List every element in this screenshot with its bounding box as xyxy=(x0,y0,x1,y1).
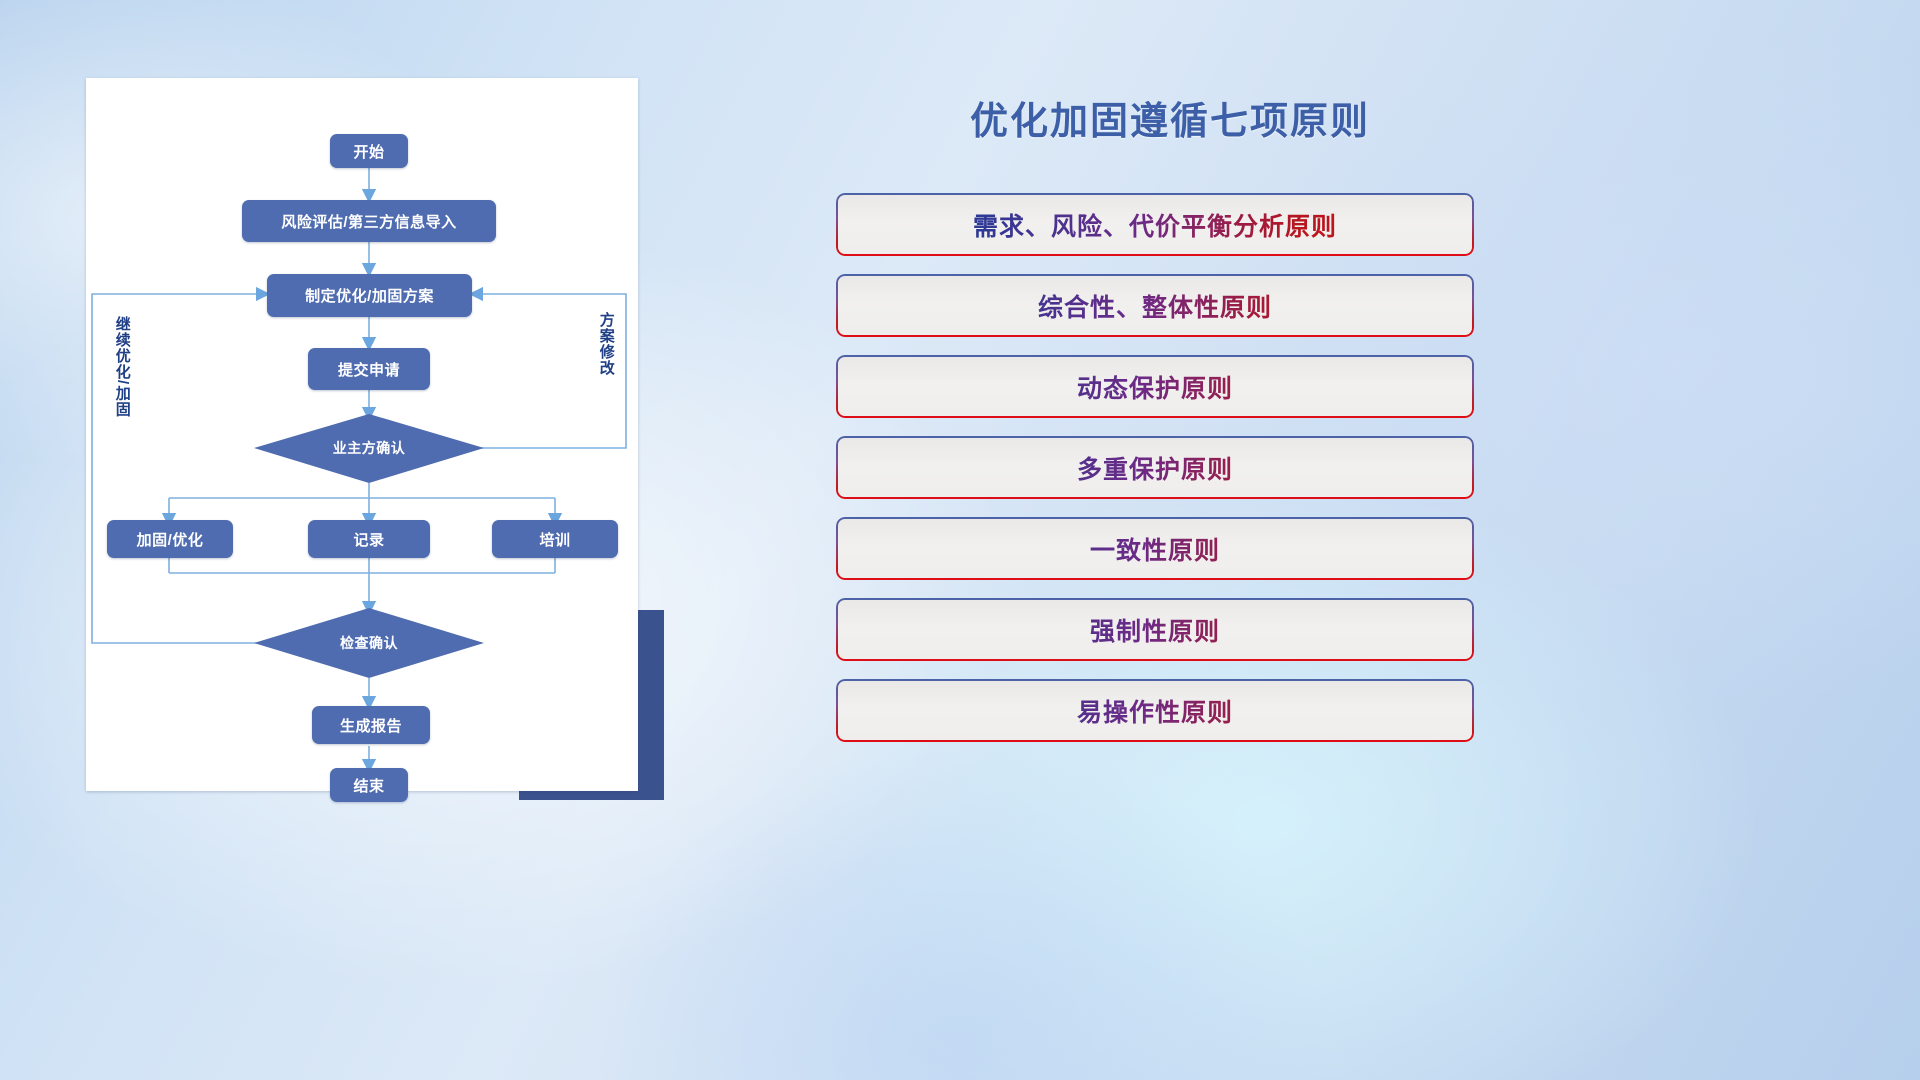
principle-item-7[interactable]: 易操作性原则 xyxy=(836,679,1474,742)
flowchart: 开始 风险评估/第三方信息导入 制定优化/加固方案 提交申请 业主方确认 加固/… xyxy=(86,78,638,791)
principle-item-1[interactable]: 需求、风险、代价平衡分析原则 xyxy=(836,193,1474,256)
flowchart-node-generate-report[interactable]: 生成报告 xyxy=(312,706,430,744)
principle-label: 综合性、整体性原则 xyxy=(836,274,1474,337)
flowchart-node-submit-application[interactable]: 提交申请 xyxy=(308,348,430,390)
principle-label: 需求、风险、代价平衡分析原则 xyxy=(836,193,1474,256)
flowchart-label-plan-revision: 方案修改 xyxy=(598,312,614,408)
flowchart-node-make-plan[interactable]: 制定优化/加固方案 xyxy=(267,274,472,317)
flowchart-label-continue-optimize: 继续优化/加固 xyxy=(114,316,130,446)
flowchart-node-owner-confirm[interactable]: 业主方确认 xyxy=(304,430,434,466)
principle-item-3[interactable]: 动态保护原则 xyxy=(836,355,1474,418)
flowchart-node-training[interactable]: 培训 xyxy=(492,520,618,558)
page-title: 优化加固遵循七项原则 xyxy=(830,90,1510,145)
principle-item-6[interactable]: 强制性原则 xyxy=(836,598,1474,661)
principle-item-4[interactable]: 多重保护原则 xyxy=(836,436,1474,499)
flowchart-node-risk-assessment[interactable]: 风险评估/第三方信息导入 xyxy=(242,200,496,242)
flowchart-node-check-confirm[interactable]: 检查确认 xyxy=(304,625,434,661)
principles-list: 需求、风险、代价平衡分析原则 综合性、整体性原则 动态保护原则 多重保护原则 一… xyxy=(836,193,1474,760)
flowchart-node-reinforce-optimize[interactable]: 加固/优化 xyxy=(107,520,233,558)
principle-label: 易操作性原则 xyxy=(836,679,1474,742)
flowchart-node-record[interactable]: 记录 xyxy=(308,520,430,558)
principle-label: 强制性原则 xyxy=(836,598,1474,661)
principle-label: 动态保护原则 xyxy=(836,355,1474,418)
principle-item-5[interactable]: 一致性原则 xyxy=(836,517,1474,580)
principle-label: 多重保护原则 xyxy=(836,436,1474,499)
principle-item-2[interactable]: 综合性、整体性原则 xyxy=(836,274,1474,337)
principle-label: 一致性原则 xyxy=(836,517,1474,580)
flowchart-node-start[interactable]: 开始 xyxy=(330,134,408,168)
flowchart-node-end[interactable]: 结束 xyxy=(330,768,408,802)
